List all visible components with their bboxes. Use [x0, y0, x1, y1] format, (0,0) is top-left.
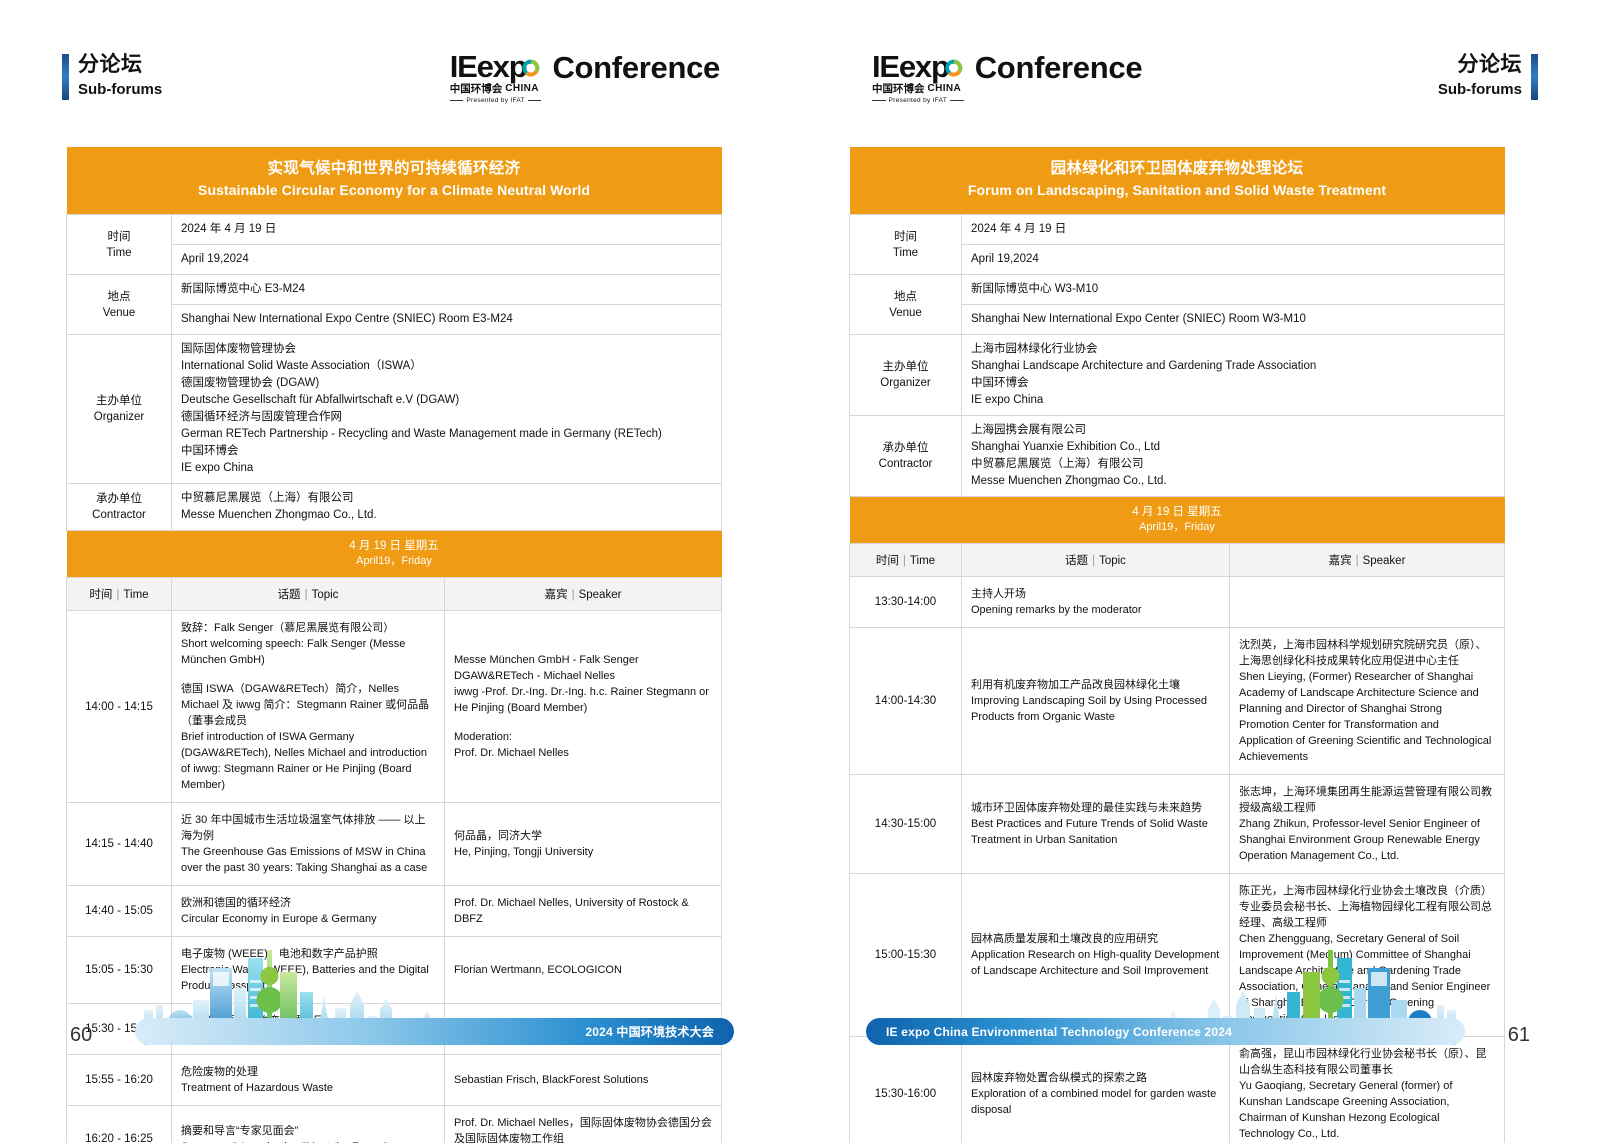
session-speaker: Prof. Dr. Michael Nelles, University of …	[445, 886, 722, 937]
logo-ie-text: IE	[872, 49, 899, 84]
session-row: 14:00 - 14:15致辞：Falk Senger（慕尼黑展览有限公司）Sh…	[67, 611, 722, 803]
info-label-en: Contractor	[71, 507, 167, 523]
info-value: 上海园携会展有限公司Shanghai Yuanxie Exhibition Co…	[962, 416, 1505, 497]
forum-title-row: 实现气候中和世界的可持续循环经济Sustainable Circular Eco…	[67, 147, 722, 215]
info-label-en: Time	[71, 245, 167, 261]
forum-title-band: 实现气候中和世界的可持续循环经济Sustainable Circular Eco…	[67, 147, 722, 215]
info-row: 地点Venue新国际博览中心 E3-M24	[67, 275, 722, 305]
logo-china-text: CHINA	[505, 83, 539, 95]
info-label-cn: 时间	[71, 229, 167, 245]
day-band: 4 月 19 日 星期五April19，Friday	[67, 531, 722, 578]
forum-title-cn: 园林绿化和环卫固体废弃物处理论坛	[856, 158, 1499, 180]
page-spread: 分论坛 Sub-forums IEexp	[0, 0, 1600, 1143]
logo-byline: Presented by IFAT	[450, 97, 542, 104]
day-band-row: 4 月 19 日 星期五April19，Friday	[850, 497, 1505, 544]
session-time: 14:15 - 14:40	[67, 803, 172, 886]
info-value: 2024 年 4 月 19 日	[172, 215, 722, 245]
subforum-label-cn: 分论坛	[78, 52, 162, 78]
subforum-label-en: Sub-forums	[1438, 80, 1522, 100]
info-value: 中贸慕尼黑展览（上海）有限公司Messe Muenchen Zhongmao C…	[172, 484, 722, 531]
info-value: 国际固体废物管理协会International Solid Waste Asso…	[172, 335, 722, 484]
page-right: IEexp 中国环博会 CHINA	[800, 0, 1600, 1143]
info-value: 新国际博览中心 E3-M24	[172, 275, 722, 305]
forum-title-cn: 实现气候中和世界的可持续循环经济	[73, 158, 716, 180]
logo-expo-text: exp	[477, 49, 527, 84]
forum-title-en: Forum on Landscaping, Sanitation and Sol…	[856, 180, 1499, 201]
page-footer-right: IE expo China Environmental Technology C…	[800, 993, 1600, 1143]
session-topic: 致辞：Falk Senger（慕尼黑展览有限公司）Short welcoming…	[172, 611, 445, 803]
info-value: April 19,2024	[172, 245, 722, 275]
session-row: 13:30-14:00主持人开场Opening remarks by the m…	[850, 577, 1505, 628]
session-row: 14:30-15:00城市环卫固体废弃物处理的最佳实践与未来趋势Best Pra…	[850, 775, 1505, 874]
session-speaker: 何品晶，同济大学He, Pinjing, Tongji University	[445, 803, 722, 886]
subforum-label-en: Sub-forums	[78, 80, 162, 100]
logo-ie-text: IE	[450, 49, 477, 84]
session-speaker: Messe München GmbH - Falk SengerDGAW&RET…	[445, 611, 722, 803]
info-row: 主办单位Organizer上海市园林绿化行业协会Shanghai Landsca…	[850, 335, 1505, 416]
day-band-cn: 4 月 19 日 星期五	[854, 504, 1501, 520]
subforum-badge: 分论坛 Sub-forums	[62, 52, 162, 100]
ie-expo-logo: IEexp 中国环博会 CHINA	[450, 52, 720, 104]
logo-expo-text: exp	[899, 49, 949, 84]
column-header-time: 时间|Time	[850, 544, 962, 577]
info-row: 时间Time2024 年 4 月 19 日	[67, 215, 722, 245]
session-topic: 近 30 年中国城市生活垃圾温室气体排放 —— 以上海为例The Greenho…	[172, 803, 445, 886]
info-label-cn: 主办单位	[854, 359, 957, 375]
logo-ring-icon	[521, 58, 541, 78]
session-speaker: 张志坤，上海环境集团再生能源运营管理有限公司教授级高级工程师Zhang Zhik…	[1230, 775, 1505, 874]
subforum-badge-right: 分论坛 Sub-forums	[1438, 52, 1538, 100]
subforum-label-cn: 分论坛	[1458, 52, 1523, 78]
day-band-en: April19，Friday	[854, 520, 1501, 535]
forum-title-row: 园林绿化和环卫固体废弃物处理论坛Forum on Landscaping, Sa…	[850, 147, 1505, 215]
footer-ribbon-text: 2024 中国环境技术大会	[585, 1023, 714, 1040]
info-label-en: Venue	[854, 305, 957, 321]
logo-chinese-name: 中国环博会	[450, 83, 503, 95]
session-row: 14:15 - 14:40近 30 年中国城市生活垃圾温室气体排放 —— 以上海…	[67, 803, 722, 886]
info-label-en: Contractor	[854, 456, 957, 472]
session-time: 14:40 - 15:05	[67, 886, 172, 937]
ie-expo-logo-right: IEexp 中国环博会 CHINA	[872, 52, 1142, 104]
info-row: 主办单位Organizer国际固体废物管理协会International Sol…	[67, 335, 722, 484]
info-label-en: Venue	[71, 305, 167, 321]
logo-chinese-name: 中国环博会	[872, 83, 925, 95]
info-label: 承办单位Contractor	[67, 484, 172, 531]
column-header-speaker: 嘉宾|Speaker	[1230, 544, 1505, 577]
page-footer-left: 2024 中国环境技术大会 60	[0, 993, 800, 1143]
session-time: 14:30-15:00	[850, 775, 962, 874]
column-header-topic: 话题|Topic	[172, 578, 445, 611]
info-row: 地点Venue新国际博览中心 W3-M10	[850, 275, 1505, 305]
page-left: 分论坛 Sub-forums IEexp	[0, 0, 800, 1143]
info-row: 时间Time2024 年 4 月 19 日	[850, 215, 1505, 245]
footer-ribbon: 2024 中国环境技术大会	[135, 1018, 734, 1045]
info-label-cn: 承办单位	[71, 491, 167, 507]
column-header-speaker: 嘉宾|Speaker	[445, 578, 722, 611]
info-label-cn: 地点	[854, 289, 957, 305]
session-speaker: 沈烈英，上海市园林科学规划研究院研究员（原）、上海思创绿化科技成果转化应用促进中…	[1230, 628, 1505, 775]
logo-byline: Presented by IFAT	[872, 97, 964, 104]
page-number: 60	[70, 1024, 92, 1047]
info-value: Shanghai New International Expo Center (…	[962, 305, 1505, 335]
forum-title-en: Sustainable Circular Economy for a Clima…	[73, 180, 716, 201]
day-band: 4 月 19 日 星期五April19，Friday	[850, 497, 1505, 544]
day-band-cn: 4 月 19 日 星期五	[71, 538, 718, 554]
info-value: Shanghai New International Expo Centre (…	[172, 305, 722, 335]
column-header-row: 时间|Time话题|Topic嘉宾|Speaker	[67, 578, 722, 611]
info-value: 2024 年 4 月 19 日	[962, 215, 1505, 245]
info-label: 时间Time	[67, 215, 172, 275]
info-label: 地点Venue	[67, 275, 172, 335]
logo-china-text: CHINA	[928, 83, 962, 95]
info-label-en: Organizer	[71, 409, 167, 425]
session-topic: 利用有机废弃物加工产品改良园林绿化土壤Improving Landscaping…	[962, 628, 1230, 775]
info-label: 时间Time	[850, 215, 962, 275]
info-label-cn: 主办单位	[71, 393, 167, 409]
logo-ring-icon	[944, 58, 964, 78]
footer-ribbon-text: IE expo China Environmental Technology C…	[886, 1025, 1232, 1039]
day-band-row: 4 月 19 日 星期五April19，Friday	[67, 531, 722, 578]
info-label: 主办单位Organizer	[67, 335, 172, 484]
day-band-en: April19，Friday	[71, 554, 718, 569]
session-speaker	[1230, 577, 1505, 628]
subforum-blue-bar	[1531, 54, 1538, 100]
session-topic: 欧洲和德国的循环经济Circular Economy in Europe & G…	[172, 886, 445, 937]
page-header-left: 分论坛 Sub-forums IEexp	[0, 52, 800, 122]
page-header-right: IEexp 中国环博会 CHINA	[800, 52, 1600, 122]
logo-conference-text: Conference	[552, 52, 720, 84]
logo-byline-text: Presented by IFAT	[889, 97, 947, 104]
session-topic: 主持人开场Opening remarks by the moderator	[962, 577, 1230, 628]
info-value: April 19,2024	[962, 245, 1505, 275]
info-label: 地点Venue	[850, 275, 962, 335]
footer-ribbon: IE expo China Environmental Technology C…	[866, 1018, 1465, 1045]
info-value: 上海市园林绿化行业协会Shanghai Landscape Architectu…	[962, 335, 1505, 416]
info-row: 承办单位Contractor中贸慕尼黑展览（上海）有限公司Messe Muenc…	[67, 484, 722, 531]
session-time: 13:30-14:00	[850, 577, 962, 628]
info-label-en: Organizer	[854, 375, 957, 391]
session-row: 14:40 - 15:05欧洲和德国的循环经济Circular Economy …	[67, 886, 722, 937]
column-header-topic: 话题|Topic	[962, 544, 1230, 577]
page-number: 61	[1508, 1024, 1530, 1047]
forum-title-band: 园林绿化和环卫固体废弃物处理论坛Forum on Landscaping, Sa…	[850, 147, 1505, 215]
column-header-time: 时间|Time	[67, 578, 172, 611]
session-time: 14:00-14:30	[850, 628, 962, 775]
info-label-en: Time	[854, 245, 957, 261]
info-label: 承办单位Contractor	[850, 416, 962, 497]
session-row: 14:00-14:30利用有机废弃物加工产品改良园林绿化土壤Improving …	[850, 628, 1505, 775]
column-header-row: 时间|Time话题|Topic嘉宾|Speaker	[850, 544, 1505, 577]
info-label-cn: 承办单位	[854, 440, 957, 456]
info-label-cn: 地点	[71, 289, 167, 305]
session-topic: 城市环卫固体废弃物处理的最佳实践与未来趋势Best Practices and …	[962, 775, 1230, 874]
subforum-blue-bar	[62, 54, 69, 100]
info-value: 新国际博览中心 W3-M10	[962, 275, 1505, 305]
info-label: 主办单位Organizer	[850, 335, 962, 416]
logo-byline-text: Presented by IFAT	[466, 97, 524, 104]
info-row: 承办单位Contractor上海园携会展有限公司Shanghai Yuanxie…	[850, 416, 1505, 497]
info-label-cn: 时间	[854, 229, 957, 245]
session-time: 14:00 - 14:15	[67, 611, 172, 803]
logo-conference-text: Conference	[975, 52, 1143, 84]
